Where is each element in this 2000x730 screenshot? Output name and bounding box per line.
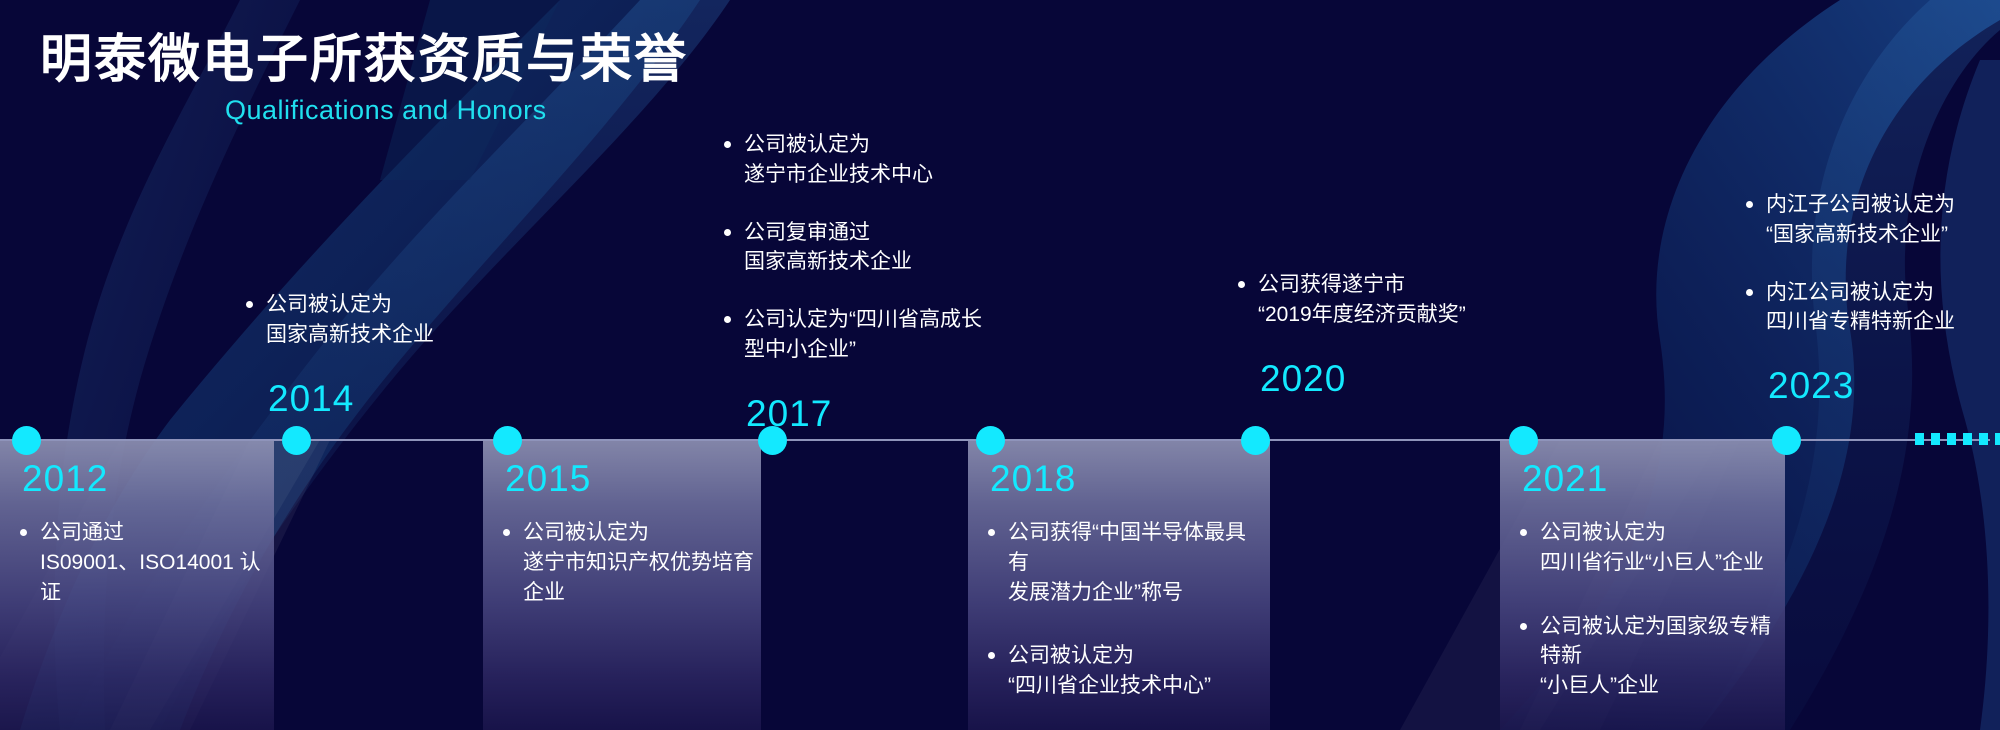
bullet-text: 公司被认定为 “四川省企业技术中心” xyxy=(1008,644,1211,697)
bullet-dot-icon xyxy=(1238,281,1245,288)
timeline-dot-6[interactable] xyxy=(1509,426,1538,455)
axis-dash xyxy=(1979,433,1988,445)
bullet-text: 公司被认定为 四川省行业“小巨人”企业 xyxy=(1540,521,1764,574)
bullet-text: 公司获得遂宁市 “2019年度经济贡献奖” xyxy=(1258,273,1466,326)
bullet-dot-icon xyxy=(20,529,27,536)
card-year-label: 2018 xyxy=(990,458,1076,500)
bullet-dot-icon xyxy=(246,301,253,308)
card-2018-bullet: 公司被认定为 “四川省企业技术中心” xyxy=(982,641,1264,701)
page-subtitle: Qualifications and Honors xyxy=(225,95,688,126)
card-2012-bullet: 公司通过 IS09001、ISO14001 认证 xyxy=(14,518,268,607)
above-bullet-list: 公司被认定为 国家高新技术企业 xyxy=(240,290,434,350)
bullet-text: 公司通过 IS09001、ISO14001 认证 xyxy=(40,521,261,604)
card-bullet-list: 公司被认定为 四川省行业“小巨人”企业公司被认定为国家级专精特新 “小巨人”企业 xyxy=(1514,518,1779,730)
bullet-text: 公司获得“中国半导体最具有 发展潜力企业”称号 xyxy=(1008,521,1246,604)
bullet-text: 公司被认定为国家级专精特新 “小巨人”企业 xyxy=(1540,615,1771,698)
bullet-dot-icon xyxy=(988,529,995,536)
card-bullet-list: 公司获得“中国半导体最具有 发展潜力企业”称号公司被认定为 “四川省企业技术中心… xyxy=(982,518,1264,730)
timeline-dot-5[interactable] xyxy=(1241,426,1270,455)
timeline-dot-1[interactable] xyxy=(282,426,311,455)
card-2021-bullet: 公司被认定为 四川省行业“小巨人”企业 xyxy=(1514,518,1779,578)
bullet-dot-icon xyxy=(724,141,731,148)
axis-dash xyxy=(1947,433,1956,445)
above-2020-bullet: 公司获得遂宁市 “2019年度经济贡献奖” xyxy=(1232,270,1466,330)
bullet-dot-icon xyxy=(724,229,731,236)
timeline-group-2014[interactable]: 公司被认定为 国家高新技术企业2014 xyxy=(240,290,434,420)
bullet-dot-icon xyxy=(1746,289,1753,296)
timeline-dot-3[interactable] xyxy=(758,426,787,455)
bullet-text: 公司复审通过 国家高新技术企业 xyxy=(744,221,912,274)
card-2018-bullet: 公司获得“中国半导体最具有 发展潜力企业”称号 xyxy=(982,518,1264,607)
timeline-dot-7[interactable] xyxy=(1772,426,1801,455)
above-bullet-list: 内江子公司被认定为 “国家高新技术企业”内江公司被认定为 四川省专精特新企业 xyxy=(1740,190,1955,337)
above-2017-bullet: 公司认定为“四川省高成长 型中小企业” xyxy=(718,305,982,365)
bullet-dot-icon xyxy=(503,529,510,536)
bullet-dot-icon xyxy=(1520,529,1527,536)
card-2015-bullet: 公司被认定为 遂宁市知识产权优势培育企业 xyxy=(497,518,755,607)
axis-dash xyxy=(1963,433,1972,445)
card-2021-bullet: 公司被认定为国家级专精特新 “小巨人”企业 xyxy=(1514,612,1779,701)
page-title: 明泰微电子所获资质与荣誉 xyxy=(40,30,688,91)
bullet-text: 内江子公司被认定为 “国家高新技术企业” xyxy=(1766,193,1955,246)
above-2017-bullet: 公司被认定为 遂宁市企业技术中心 xyxy=(718,130,982,190)
timeline-card-2015[interactable]: 2015公司被认定为 遂宁市知识产权优势培育企业 xyxy=(483,440,761,730)
axis-dash xyxy=(1915,433,1924,445)
bullet-text: 内江公司被认定为 四川省专精特新企业 xyxy=(1766,281,1955,334)
bullet-dot-icon xyxy=(724,316,731,323)
timeline-dot-2[interactable] xyxy=(493,426,522,455)
above-year-label: 2020 xyxy=(1260,358,1466,400)
bullet-text: 公司被认定为 国家高新技术企业 xyxy=(266,293,434,346)
timeline-card-2012[interactable]: 2012公司通过 IS09001、ISO14001 认证 xyxy=(0,440,274,730)
bullet-dot-icon xyxy=(1520,623,1527,630)
bullet-text: 公司认定为“四川省高成长 型中小企业” xyxy=(744,308,982,361)
timeline-group-2017[interactable]: 公司被认定为 遂宁市企业技术中心公司复审通过 国家高新技术企业公司认定为“四川省… xyxy=(718,130,982,435)
above-year-label: 2014 xyxy=(268,378,434,420)
header: 明泰微电子所获资质与荣誉 Qualifications and Honors xyxy=(40,30,688,126)
axis-dash xyxy=(1931,433,1940,445)
axis-dash xyxy=(1995,433,2000,445)
bullet-text: 公司被认定为 遂宁市知识产权优势培育企业 xyxy=(523,521,754,604)
above-2023-bullet: 内江子公司被认定为 “国家高新技术企业” xyxy=(1740,190,1955,250)
above-bullet-list: 公司获得遂宁市 “2019年度经济贡献奖” xyxy=(1232,270,1466,330)
above-2014-bullet: 公司被认定为 国家高新技术企业 xyxy=(240,290,434,350)
timeline-group-2023[interactable]: 内江子公司被认定为 “国家高新技术企业”内江公司被认定为 四川省专精特新企业20… xyxy=(1740,190,1955,407)
bullet-text: 公司被认定为 遂宁市企业技术中心 xyxy=(744,133,933,186)
timeline-card-2021[interactable]: 2021公司被认定为 四川省行业“小巨人”企业公司被认定为国家级专精特新 “小巨… xyxy=(1500,440,1785,730)
card-bullet-list: 公司通过 IS09001、ISO14001 认证 xyxy=(14,518,268,641)
bullet-dot-icon xyxy=(988,652,995,659)
card-year-label: 2012 xyxy=(22,458,108,500)
card-year-label: 2015 xyxy=(505,458,591,500)
slide-canvas: 明泰微电子所获资质与荣誉 Qualifications and Honors 2… xyxy=(0,0,2000,730)
card-bullet-list: 公司被认定为 遂宁市知识产权优势培育企业 xyxy=(497,518,755,641)
card-year-label: 2021 xyxy=(1522,458,1608,500)
above-bullet-list: 公司被认定为 遂宁市企业技术中心公司复审通过 国家高新技术企业公司认定为“四川省… xyxy=(718,130,982,365)
timeline-group-2020[interactable]: 公司获得遂宁市 “2019年度经济贡献奖”2020 xyxy=(1232,270,1466,400)
above-2023-bullet: 内江公司被认定为 四川省专精特新企业 xyxy=(1740,278,1955,338)
bullet-dot-icon xyxy=(1746,201,1753,208)
timeline-card-2018[interactable]: 2018公司获得“中国半导体最具有 发展潜力企业”称号公司被认定为 “四川省企业… xyxy=(968,440,1270,730)
above-year-label: 2023 xyxy=(1768,365,1955,407)
timeline-dot-0[interactable] xyxy=(12,426,41,455)
timeline-dot-4[interactable] xyxy=(976,426,1005,455)
timeline-end-dashes xyxy=(1915,433,2000,445)
above-2017-bullet: 公司复审通过 国家高新技术企业 xyxy=(718,218,982,278)
